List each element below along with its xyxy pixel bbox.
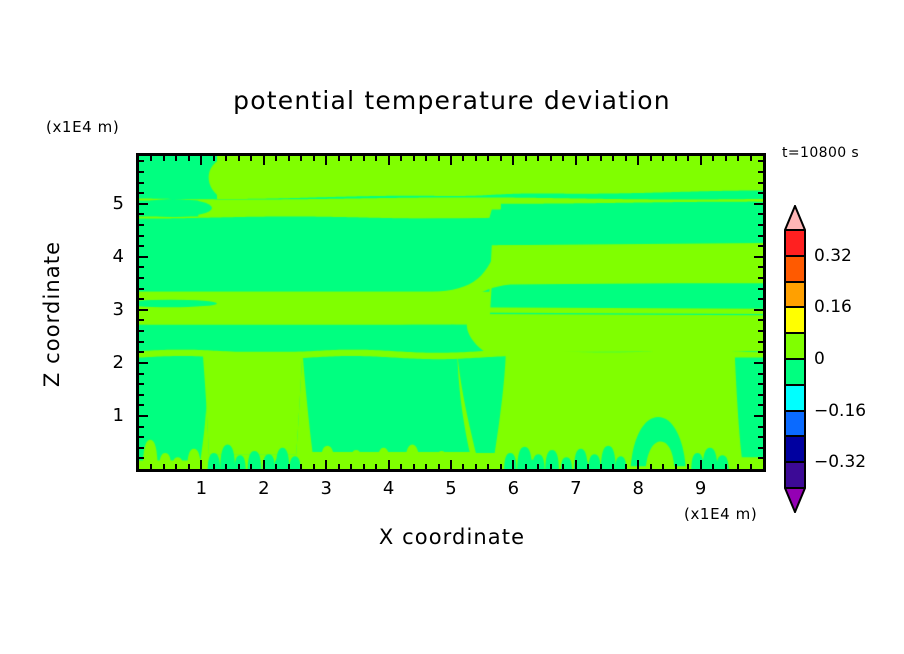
x-tick-mark: [450, 156, 452, 165]
x-tick-mark: [587, 464, 589, 469]
x-tick-mark: [475, 464, 477, 469]
x-tick-mark: [150, 464, 152, 469]
x-tick-mark: [175, 156, 177, 161]
x-tick-mark: [413, 156, 415, 161]
colorbar: [784, 230, 806, 488]
y-tick-mark: [139, 192, 144, 194]
x-tick-mark: [525, 464, 527, 469]
x-tick-mark: [325, 156, 327, 165]
x-axis-label: X coordinate: [0, 525, 904, 549]
time-annotation: t=10800 s: [782, 145, 859, 161]
x-tick-mark: [238, 156, 240, 161]
colorbar-band: [784, 359, 806, 385]
y-tick-mark: [139, 266, 144, 268]
y-axis-units: (x1E4 m): [46, 118, 119, 136]
x-tick-label: 7: [556, 478, 596, 499]
x-tick-mark: [537, 156, 539, 161]
y-axis-label: Z coordinate: [40, 204, 64, 424]
x-tick-mark: [675, 464, 677, 469]
x-tick-mark: [475, 156, 477, 161]
x-tick-label: 5: [431, 478, 471, 499]
x-tick-mark: [687, 156, 689, 161]
x-tick-mark: [625, 464, 627, 469]
colorbar-top-arrow-outline: [784, 205, 806, 231]
y-tick-label: 4: [92, 246, 124, 267]
x-tick-mark: [662, 464, 664, 469]
x-tick-label: 3: [306, 478, 346, 499]
y-tick-mark: [754, 256, 763, 258]
x-tick-mark: [487, 464, 489, 469]
x-tick-mark: [288, 464, 290, 469]
colorbar-band: [784, 462, 806, 488]
x-tick-mark: [300, 156, 302, 161]
x-tick-mark: [462, 464, 464, 469]
y-tick-mark: [139, 457, 144, 459]
x-tick-mark: [612, 156, 614, 161]
x-axis-units: (x1E4 m): [684, 505, 757, 523]
colorbar-band: [784, 436, 806, 462]
x-tick-mark: [650, 156, 652, 161]
y-tick-mark: [139, 277, 144, 279]
x-tick-mark: [338, 156, 340, 161]
y-tick-mark: [758, 277, 763, 279]
x-tick-mark: [500, 156, 502, 161]
colorbar-bottom-arrow-outline: [784, 487, 806, 513]
x-tick-mark: [737, 156, 739, 161]
y-tick-mark: [139, 203, 148, 205]
x-tick-mark: [512, 156, 514, 165]
x-tick-mark: [687, 464, 689, 469]
x-tick-label: 4: [369, 478, 409, 499]
x-tick-label: 2: [244, 478, 284, 499]
colorbar-band: [784, 385, 806, 411]
y-tick-mark: [758, 447, 763, 449]
y-tick-mark: [139, 362, 148, 364]
x-tick-mark: [612, 464, 614, 469]
y-tick-mark: [758, 436, 763, 438]
x-tick-mark: [450, 460, 452, 469]
x-tick-mark: [163, 464, 165, 469]
x-tick-label: 1: [181, 478, 221, 499]
x-tick-mark: [637, 460, 639, 469]
x-tick-mark: [350, 464, 352, 469]
y-tick-mark: [754, 203, 763, 205]
y-tick-mark: [758, 171, 763, 173]
x-tick-mark: [600, 156, 602, 161]
y-tick-mark: [139, 394, 144, 396]
y-tick-mark: [139, 383, 144, 385]
x-tick-mark: [313, 156, 315, 161]
x-tick-mark: [200, 460, 202, 469]
x-tick-mark: [413, 464, 415, 469]
x-tick-mark: [300, 464, 302, 469]
y-tick-label: 3: [92, 299, 124, 320]
y-tick-mark: [139, 330, 144, 332]
x-tick-mark: [725, 464, 727, 469]
x-tick-label: 9: [681, 478, 721, 499]
contour-plot-area: [136, 153, 766, 472]
x-tick-mark: [462, 156, 464, 161]
x-tick-label: 6: [493, 478, 533, 499]
y-tick-mark: [139, 224, 144, 226]
x-tick-mark: [263, 156, 265, 165]
colorbar-tick-label: −0.32: [814, 452, 866, 472]
colorbar-tick-label: 0.16: [814, 297, 852, 317]
y-tick-mark: [758, 182, 763, 184]
x-tick-mark: [700, 156, 702, 165]
y-tick-mark: [139, 426, 144, 428]
colorbar-tick-label: 0: [814, 349, 825, 369]
x-tick-mark: [388, 460, 390, 469]
x-tick-mark: [712, 464, 714, 469]
x-tick-mark: [675, 156, 677, 161]
x-tick-mark: [188, 156, 190, 161]
x-tick-mark: [363, 156, 365, 161]
x-tick-mark: [275, 156, 277, 161]
y-tick-mark: [139, 235, 144, 237]
y-tick-mark: [758, 319, 763, 321]
x-tick-mark: [750, 156, 752, 161]
y-tick-mark: [139, 373, 144, 375]
x-tick-mark: [625, 156, 627, 161]
x-tick-mark: [250, 464, 252, 469]
y-tick-mark: [758, 394, 763, 396]
y-tick-mark: [758, 351, 763, 353]
contour-field-canvas: [139, 156, 763, 469]
x-tick-mark: [575, 460, 577, 469]
y-tick-mark: [758, 266, 763, 268]
y-tick-mark: [139, 256, 148, 258]
x-tick-mark: [313, 464, 315, 469]
x-tick-mark: [175, 464, 177, 469]
y-tick-mark: [754, 362, 763, 364]
y-tick-mark: [754, 309, 763, 311]
y-tick-mark: [139, 298, 144, 300]
y-tick-mark: [139, 213, 144, 215]
y-tick-mark: [758, 288, 763, 290]
y-tick-mark: [758, 235, 763, 237]
x-tick-mark: [363, 464, 365, 469]
x-tick-mark: [263, 460, 265, 469]
x-tick-mark: [375, 464, 377, 469]
y-tick-mark: [139, 447, 144, 449]
x-tick-mark: [575, 156, 577, 165]
y-tick-mark: [758, 160, 763, 162]
x-tick-mark: [213, 464, 215, 469]
x-tick-mark: [500, 464, 502, 469]
x-tick-mark: [275, 464, 277, 469]
y-tick-mark: [758, 213, 763, 215]
y-tick-mark: [139, 341, 144, 343]
x-tick-mark: [487, 156, 489, 161]
x-tick-mark: [425, 156, 427, 161]
figure-root: potential temperature deviation (x1E4 m)…: [0, 0, 904, 654]
x-tick-mark: [350, 156, 352, 161]
x-tick-mark: [375, 156, 377, 161]
x-tick-mark: [600, 464, 602, 469]
y-tick-label: 2: [92, 352, 124, 373]
x-tick-mark: [188, 464, 190, 469]
x-tick-mark: [750, 464, 752, 469]
x-tick-mark: [650, 464, 652, 469]
x-tick-mark: [562, 156, 564, 161]
x-tick-mark: [587, 156, 589, 161]
x-tick-mark: [288, 156, 290, 161]
chart-title: potential temperature deviation: [0, 86, 904, 115]
x-tick-mark: [163, 156, 165, 161]
y-tick-mark: [758, 330, 763, 332]
x-tick-mark: [512, 460, 514, 469]
y-tick-mark: [139, 288, 144, 290]
y-tick-mark: [139, 171, 144, 173]
y-tick-label: 1: [92, 405, 124, 426]
colorbar-band: [784, 230, 806, 256]
y-tick-mark: [139, 182, 144, 184]
colorbar-band: [784, 307, 806, 333]
x-tick-mark: [400, 464, 402, 469]
x-tick-mark: [438, 464, 440, 469]
x-tick-mark: [225, 156, 227, 161]
x-tick-mark: [712, 156, 714, 161]
x-tick-mark: [700, 460, 702, 469]
x-tick-mark: [400, 156, 402, 161]
x-tick-mark: [388, 156, 390, 165]
x-tick-mark: [225, 464, 227, 469]
y-tick-mark: [139, 309, 148, 311]
x-tick-mark: [238, 464, 240, 469]
x-tick-label: 8: [618, 478, 658, 499]
colorbar-band: [784, 333, 806, 359]
colorbar-band: [784, 282, 806, 308]
x-tick-mark: [550, 156, 552, 161]
colorbar-tick-label: −0.16: [814, 401, 866, 421]
y-tick-mark: [754, 415, 763, 417]
y-tick-mark: [139, 245, 144, 247]
y-tick-mark: [139, 436, 144, 438]
x-tick-mark: [550, 464, 552, 469]
x-tick-mark: [737, 464, 739, 469]
y-tick-mark: [139, 319, 144, 321]
y-tick-mark: [139, 160, 144, 162]
x-tick-mark: [213, 156, 215, 161]
y-tick-mark: [758, 192, 763, 194]
x-tick-mark: [200, 156, 202, 165]
y-tick-mark: [139, 404, 144, 406]
x-tick-mark: [150, 156, 152, 161]
y-tick-label: 5: [92, 193, 124, 214]
y-tick-mark: [758, 298, 763, 300]
x-tick-mark: [662, 156, 664, 161]
y-tick-mark: [758, 383, 763, 385]
x-tick-mark: [250, 156, 252, 161]
y-tick-mark: [139, 415, 148, 417]
y-tick-mark: [758, 457, 763, 459]
x-tick-mark: [562, 464, 564, 469]
x-tick-mark: [325, 460, 327, 469]
colorbar-tick-label: 0.32: [814, 246, 852, 266]
x-tick-mark: [525, 156, 527, 161]
colorbar-band: [784, 256, 806, 282]
x-tick-mark: [725, 156, 727, 161]
x-tick-mark: [425, 464, 427, 469]
x-tick-mark: [338, 464, 340, 469]
x-tick-mark: [537, 464, 539, 469]
y-tick-mark: [758, 245, 763, 247]
y-tick-mark: [758, 224, 763, 226]
y-tick-mark: [139, 351, 144, 353]
y-tick-mark: [758, 404, 763, 406]
x-tick-mark: [438, 156, 440, 161]
y-tick-mark: [758, 426, 763, 428]
x-tick-mark: [637, 156, 639, 165]
colorbar-band: [784, 411, 806, 437]
y-tick-mark: [758, 373, 763, 375]
y-tick-mark: [758, 341, 763, 343]
